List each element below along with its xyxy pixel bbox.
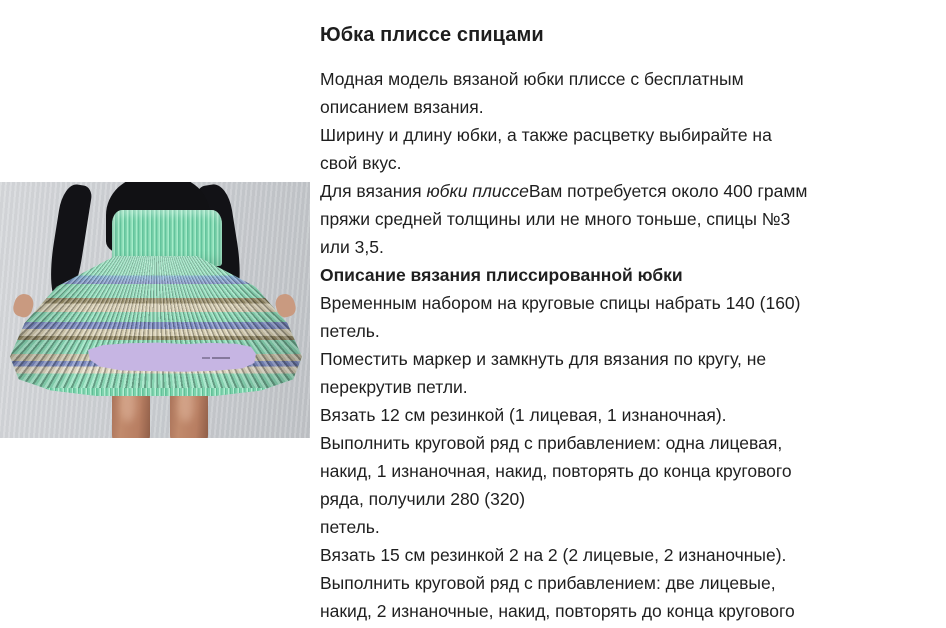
skirt-shading [10, 256, 302, 396]
pleated-skirt [10, 210, 302, 406]
article-line: накид, 1 изнаночная, накид, повторять до… [320, 457, 940, 485]
photo-canvas [0, 182, 310, 438]
article-line: или 3,5. [320, 233, 940, 261]
yarn-note-emphasis: юбки плиссе [427, 181, 529, 201]
article-line: Вязать 15 см резинкой 2 на 2 (2 лицевые,… [320, 541, 940, 569]
yarn-note-lead: Для вязания [320, 181, 427, 201]
article-line: пряжи средней толщины или не много тоньш… [320, 205, 940, 233]
article-line: Модная модель вязаной юбки плиссе с бесп… [320, 65, 940, 93]
article-line: Временным набором на круговые спицы набр… [320, 289, 940, 317]
article-line: ряда, получили 280 (320) [320, 485, 940, 513]
page-title: Юбка плиссе спицами [320, 0, 940, 48]
article-line: Вязать 12 см резинкой (1 лицевая, 1 изна… [320, 401, 940, 429]
redaction-mark-secondary [202, 357, 210, 359]
article-line: Выполнить круговой ряд с прибавлением: о… [320, 429, 940, 457]
yarn-note-tail: Вам потребуется около 400 грамм [529, 181, 808, 201]
article-line: Ширину и длину юбки, а также расцветку в… [320, 121, 940, 149]
article-line-with-emphasis: Для вязания юбки плиссеВам потребуется о… [320, 177, 940, 205]
article-line: Выполнить круговой ряд с прибавлением: д… [320, 569, 940, 597]
watermark-redaction-overlay [88, 342, 256, 372]
article-line: накид, 2 изнаночные, накид, повторять до… [320, 597, 940, 625]
article-line: петель. [320, 317, 940, 345]
article-line: Поместить маркер и замкнуть для вязания … [320, 345, 940, 373]
article-body: Модная модель вязаной юбки плиссе с бесп… [320, 48, 940, 628]
article-column: Юбка плиссе спицами Модная модель вязано… [320, 0, 940, 628]
section-subheading: Описание вязания плиссированной юбки [320, 261, 940, 289]
article-line: перекрутив петли. [320, 373, 940, 401]
skirt-hem [10, 388, 302, 396]
article-line: свой вкус. [320, 149, 940, 177]
skirt-photo [0, 182, 310, 438]
skirt-flared-body [10, 256, 302, 396]
article-line: описанием вязания. [320, 93, 940, 121]
page-root: Юбка плиссе спицами Модная модель вязано… [0, 0, 946, 628]
article-line: петель. [320, 513, 940, 541]
redaction-mark-primary [212, 357, 230, 359]
